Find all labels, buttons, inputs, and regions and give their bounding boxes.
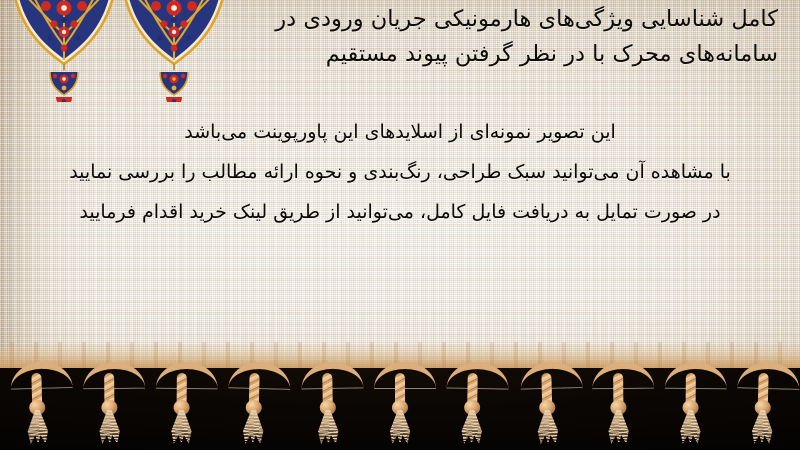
- persian-illuminated-medallion-icon: [6, 0, 124, 102]
- body-line-1: این تصویر نمونه‌ای از اسلایدهای این پاور…: [16, 112, 784, 152]
- medallion-art-right: [116, 0, 234, 102]
- body-line-3: در صورت تمایل به دریافت فایل کامل، می‌تو…: [16, 192, 784, 232]
- body-line-2: با مشاهده آن می‌توانید سبک طراحی، رنگ‌بن…: [16, 152, 784, 192]
- title-line-1: کامل شناسایی ویژگی‌های هارمونیکی جریان و…: [218, 2, 778, 37]
- persian-illuminated-medallion-icon: [116, 0, 234, 102]
- slide-title: کامل شناسایی ویژگی‌های هارمونیکی جریان و…: [218, 2, 778, 72]
- lower-black-field: [0, 368, 800, 450]
- medallion-art-left: [6, 0, 124, 102]
- medallion-pendant: [50, 64, 78, 102]
- title-line-2: سامانه‌های محرک با در نظر گرفتن پیوند مس…: [218, 37, 778, 72]
- slide-body: این تصویر نمونه‌ای از اسلایدهای این پاور…: [16, 112, 784, 232]
- slide-canvas: کامل شناسایی ویژگی‌های هارمونیکی جریان و…: [0, 0, 800, 450]
- medallion-pendant: [160, 64, 188, 102]
